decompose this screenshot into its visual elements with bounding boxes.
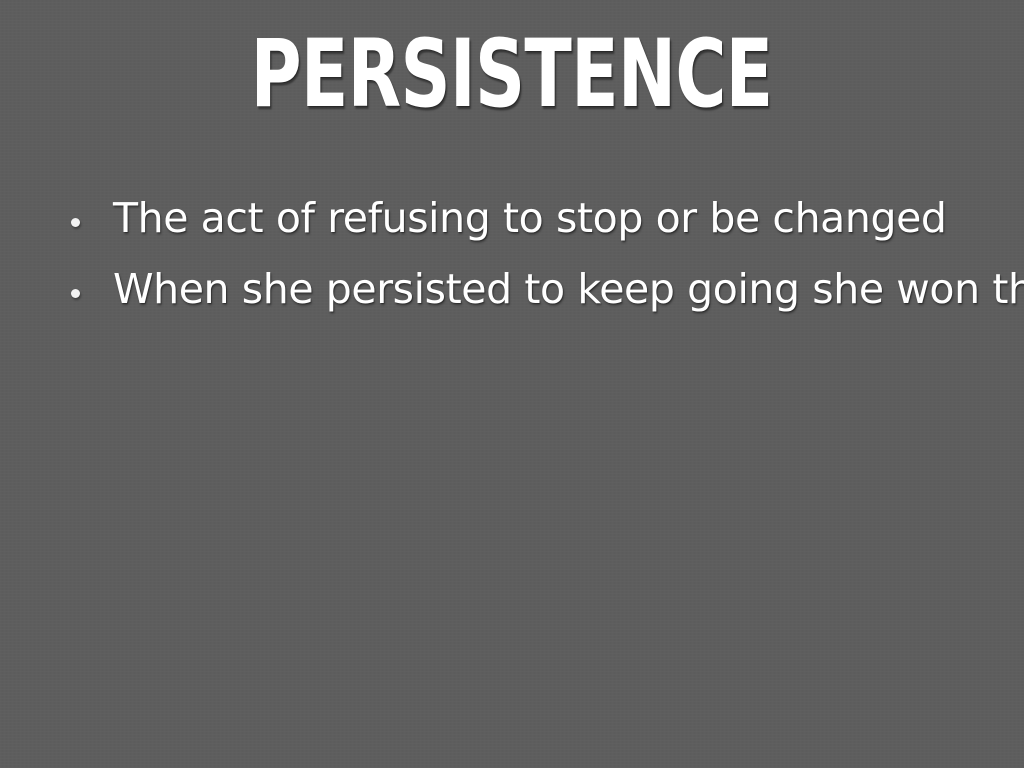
list-item: The act of refusing to stop or be change… [62, 196, 1012, 240]
title-block: PERSISTENCE [0, 28, 1024, 122]
slide-title: PERSISTENCE [251, 28, 773, 122]
bullet-dot-icon [62, 267, 113, 311]
list-item: When she persisted to keep going she won… [62, 267, 1012, 311]
bullet-text: The act of refusing to stop or be change… [113, 196, 1012, 240]
bullet-text: When she persisted to keep going she won… [113, 267, 1024, 311]
presentation-slide: PERSISTENCE The act of refusing to stop … [0, 0, 1024, 768]
bullet-dot-icon [62, 196, 113, 240]
bullet-list: The act of refusing to stop or be change… [62, 196, 1012, 338]
